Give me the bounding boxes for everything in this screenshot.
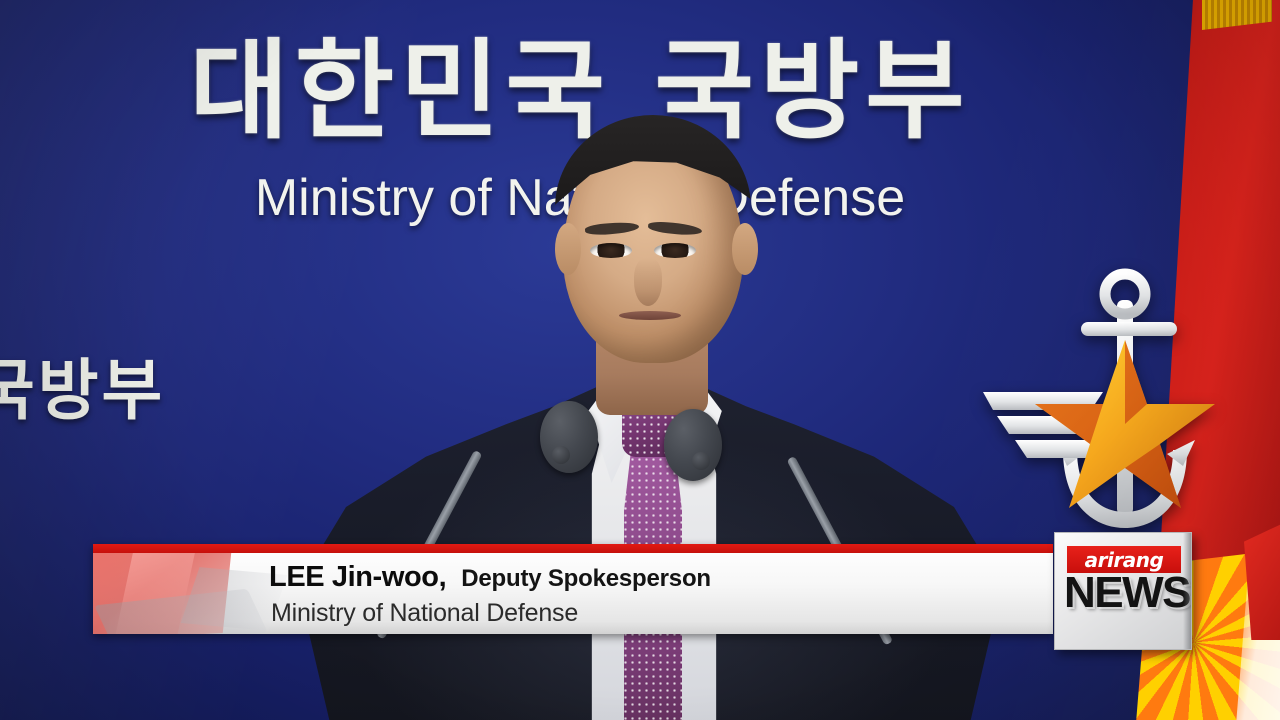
news-program-text: NEWS — [1064, 571, 1184, 615]
speaker-role: Deputy Spokesperson — [461, 565, 711, 593]
speaker-organization: Ministry of National Defense — [271, 599, 578, 628]
channel-logo: arirang NEWS — [1054, 532, 1192, 650]
channel-logo-inner: arirang NEWS — [1061, 538, 1185, 643]
lower-third-banner: LEE Jin-woo, Deputy Spokesperson Ministr… — [93, 544, 1053, 634]
speaker-name: LEE Jin-woo, — [269, 561, 446, 594]
lower-third-primary-line: LEE Jin-woo, Deputy Spokesperson — [269, 561, 711, 594]
broadcast-frame: 대한민국 국방부 Ministry of National Defense 국방… — [0, 0, 1280, 720]
lower-third-accent-bar — [93, 544, 1053, 553]
logo-bevel-edge — [1183, 533, 1191, 649]
lower-third-text-group: LEE Jin-woo, Deputy Spokesperson Ministr… — [93, 553, 1053, 634]
